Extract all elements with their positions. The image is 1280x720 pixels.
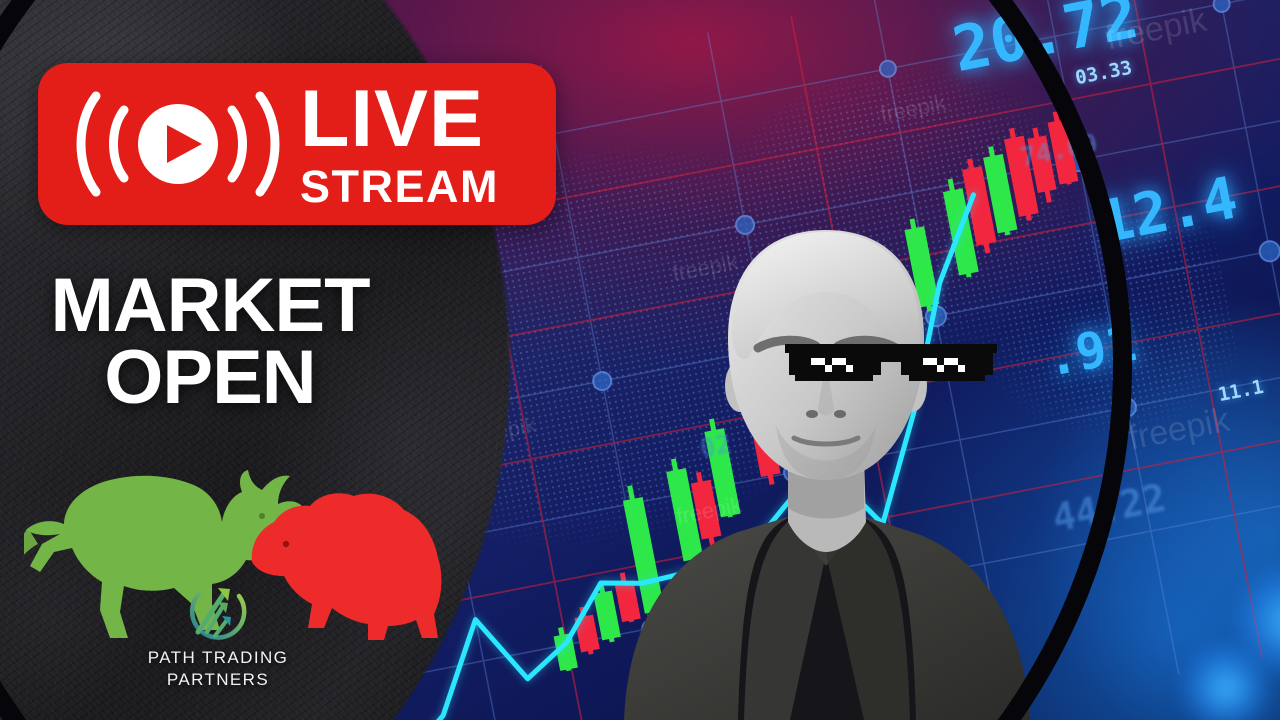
live-badge-text: LIVE STREAM — [300, 79, 499, 209]
brand-line-1: PATH TRADING — [108, 648, 328, 668]
headline-line-2: OPEN — [0, 342, 420, 414]
page-title: MARKET OPEN — [0, 270, 420, 414]
deal-with-it-sunglasses — [785, 338, 997, 384]
brand-lockup: PATH TRADING PARTNERS — [108, 580, 328, 690]
live-broadcast-icon — [62, 84, 294, 204]
live-stream-badge[interactable]: LIVE STREAM — [38, 63, 556, 225]
live-label: LIVE — [300, 79, 499, 160]
stream-label: STREAM — [300, 164, 499, 209]
path-arrows-logo — [185, 580, 251, 646]
thumbnail-canvas: 20.72 03.33 74.69 12.4 .91 11.1 44.22 07… — [0, 0, 1280, 720]
brand-line-2: PARTNERS — [108, 670, 328, 690]
presenter-portrait — [612, 222, 1042, 720]
headline-line-1: MARKET — [0, 270, 420, 342]
